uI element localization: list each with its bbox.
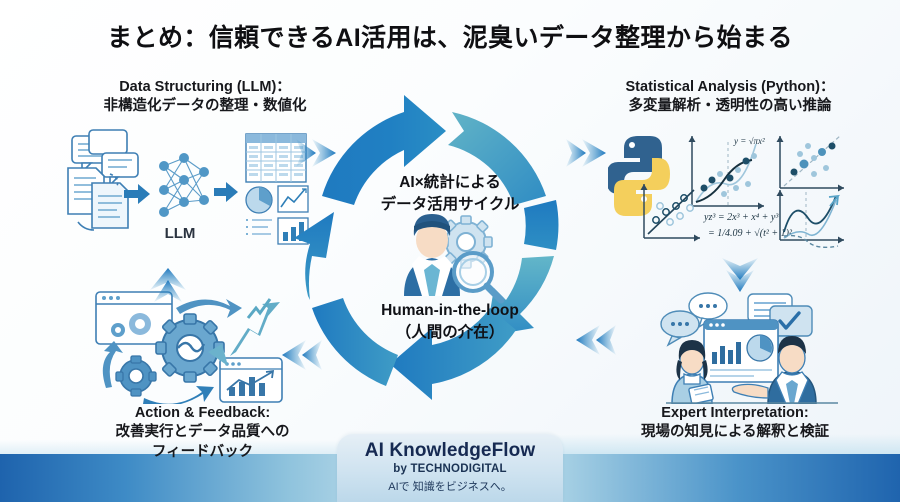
label-action-feedback-jp1: 改善実行とデータ品質への bbox=[50, 423, 355, 442]
label-statistical-analysis-en: Statistical Analysis (Python)： bbox=[570, 78, 890, 97]
label-data-structuring: Data Structuring (LLM)： 非構造化データの整理・数値化 bbox=[55, 78, 355, 117]
label-action-feedback-en: Action & Feedback: bbox=[50, 404, 355, 423]
cycle-caption-line2: （人間の介在） bbox=[330, 322, 570, 344]
brand-name: AI KnowledgeFlow bbox=[337, 440, 563, 462]
illustration-action-feedback bbox=[80, 286, 310, 404]
human-in-the-loop-icon bbox=[404, 214, 501, 300]
label-data-structuring-en: Data Structuring (LLM)： bbox=[55, 78, 355, 97]
connector-right-down bbox=[722, 258, 758, 292]
cycle-caption: Human-in-the-loop （人間の介在） bbox=[330, 300, 570, 344]
label-data-structuring-jp: 非構造化データの整理・数値化 bbox=[55, 97, 355, 116]
label-expert-interpretation: Expert Interpretation: 現場の知見による解釈と検証 bbox=[580, 404, 890, 443]
label-statistical-analysis: Statistical Analysis (Python)： 多変量解析・透明性… bbox=[570, 78, 890, 117]
label-statistical-analysis-jp: 多変量解析・透明性の高い推論 bbox=[570, 97, 890, 116]
python-logo-icon bbox=[608, 136, 670, 216]
label-action-feedback-jp2: フィードバック bbox=[50, 443, 355, 462]
page-title: まとめ：信頼できるAI活用は、泥臭いデータ整理から始まる bbox=[0, 18, 900, 54]
connector-top-right bbox=[566, 139, 606, 167]
connector-bottom-right bbox=[576, 325, 616, 355]
illustration-data-structuring: LLM bbox=[62, 128, 312, 246]
label-expert-interpretation-en: Expert Interpretation: bbox=[580, 404, 890, 423]
footer-brand-card: AI KnowledgeFlow by TECHNODIGITAL AIで 知識… bbox=[337, 434, 563, 502]
label-action-feedback: Action & Feedback: 改善実行とデータ品質への フィードバック bbox=[50, 404, 355, 462]
cycle-caption-line1: Human-in-the-loop bbox=[330, 300, 570, 322]
formula-1: y = √πx² bbox=[733, 136, 765, 146]
label-expert-interpretation-jp: 現場の知見による解釈と検証 bbox=[580, 423, 890, 442]
formula-2: yz³ = 2x³ + x⁴ + y³ bbox=[703, 212, 779, 223]
cycle-heading-line1: AI×統計による bbox=[330, 172, 570, 194]
llm-illustration-label: LLM bbox=[165, 225, 196, 242]
brand-by: by TECHNODIGITAL bbox=[337, 463, 563, 475]
cycle-heading: AI×統計による データ活用サイクル bbox=[330, 172, 570, 216]
cycle-heading-line2: データ活用サイクル bbox=[330, 194, 570, 216]
brand-tagline: AIで 知識をビジネスへ。 bbox=[337, 478, 563, 494]
illustration-statistical-analysis: y = √πx² bbox=[608, 128, 878, 254]
slide-canvas: まとめ：信頼できるAI活用は、泥臭いデータ整理から始まる bbox=[0, 0, 900, 502]
illustration-expert-interpretation bbox=[642, 288, 862, 404]
